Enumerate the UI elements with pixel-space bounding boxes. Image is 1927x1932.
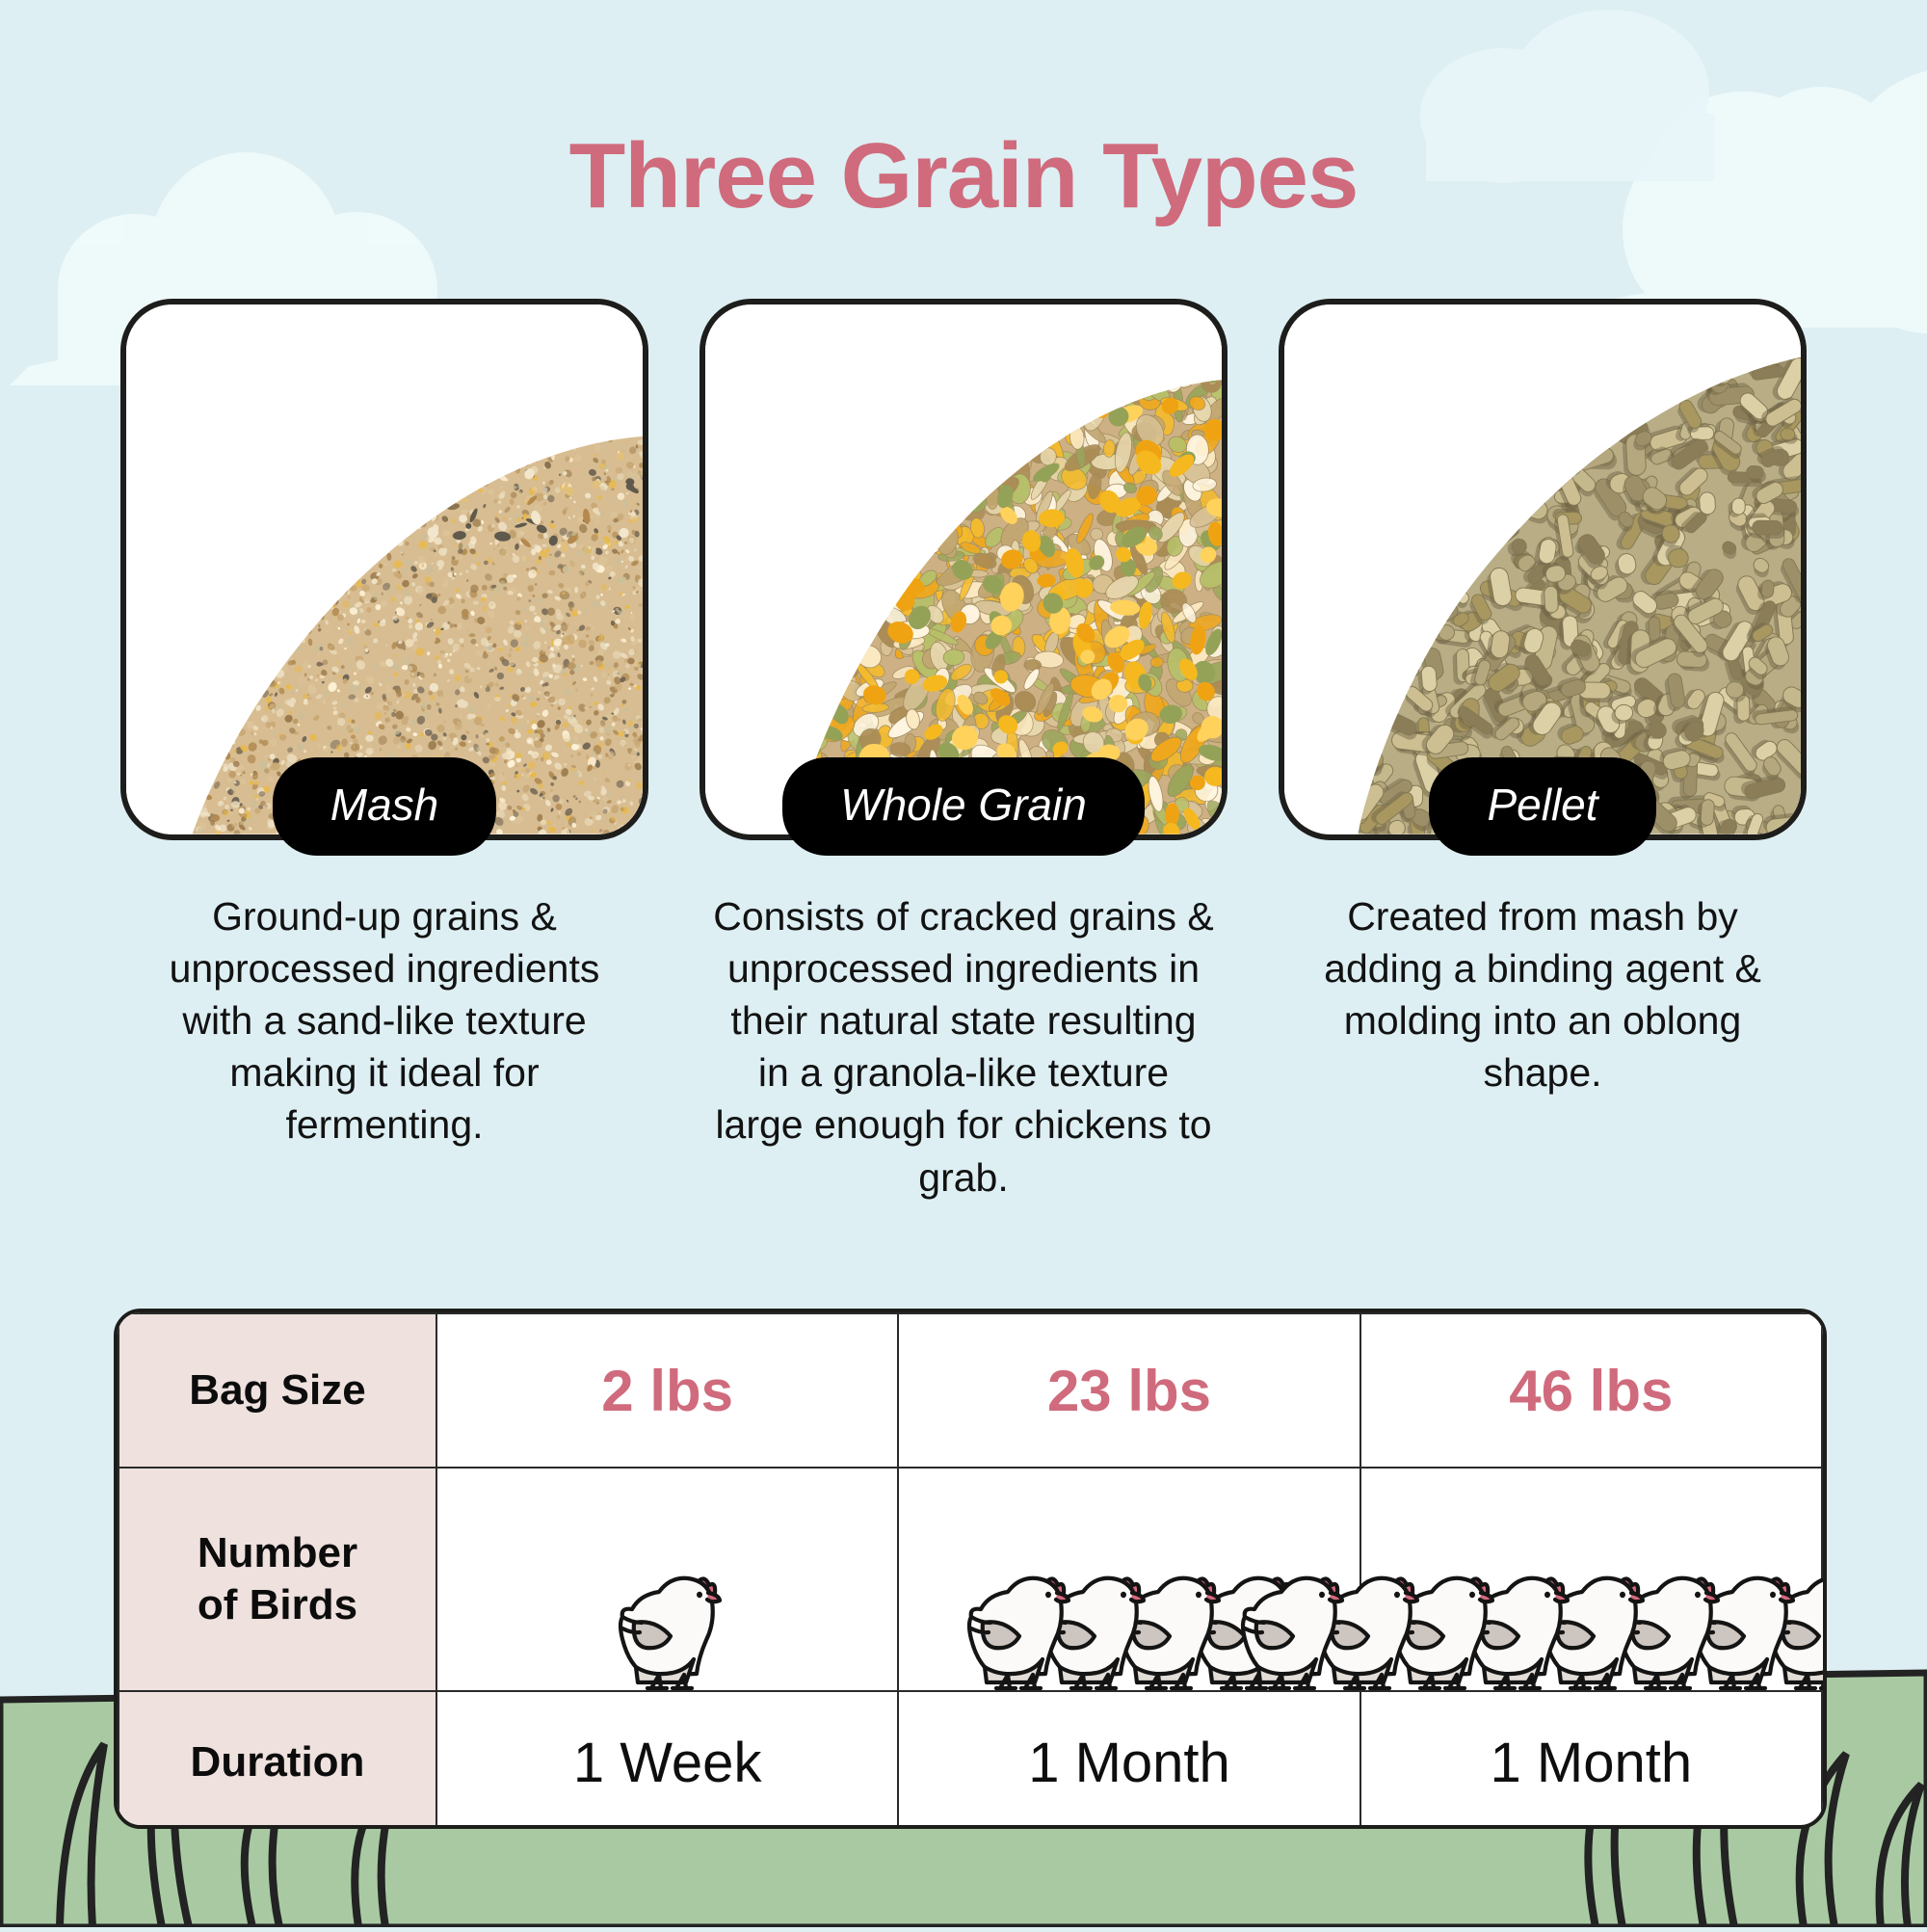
table-row-bag-size: Bag Size 2 lbs 23 lbs 46 lbs [119,1313,1822,1468]
cell-bag-size-1: 2 lbs [436,1313,898,1468]
grain-label-pellet: Pellet [1429,757,1655,856]
cell-duration-1: 1 Week [436,1691,898,1829]
grain-description-pellet: Created from mash by adding a binding ag… [1292,890,1793,1098]
chicken-icon [960,1567,1073,1690]
grain-description-mash: Ground-up grains & unprocessed ingredien… [134,890,635,1151]
grain-pile-whole-grain-icon [705,304,1222,834]
row-label-number-of-birds: Number of Birds [119,1468,436,1691]
cell-birds-3 [1360,1468,1822,1691]
chicken-icon [1233,1567,1347,1690]
table-row-duration: Duration 1 Week 1 Month 1 Month [119,1691,1822,1829]
grain-description-whole-grain: Consists of cracked grains & unprocessed… [713,890,1214,1204]
chicken-icon [611,1567,725,1690]
page-title: Three Grain Types [0,123,1927,229]
grain-pile-mash-icon [126,304,643,834]
table-row-number-of-birds: Number of Birds [119,1468,1822,1691]
grain-label-whole-grain: Whole Grain [782,757,1145,856]
grain-card-whole-grain[interactable]: Whole Grain Consists of cracked grains &… [700,299,1227,1204]
row-label-line2: of Birds [198,1581,357,1628]
row-label-bag-size: Bag Size [119,1313,436,1468]
cell-birds-1 [436,1468,898,1691]
row-label-duration: Duration [119,1691,436,1829]
grain-pile-pellet-icon [1284,304,1801,834]
feed-comparison-table: Bag Size 2 lbs 23 lbs 46 lbs Number of B… [114,1309,1827,1829]
grain-types-row: Mash Ground-up grains & unprocessed ingr… [0,299,1927,1204]
cell-duration-2: 1 Month [898,1691,1359,1829]
grain-label-mash: Mash [273,757,496,856]
row-label-line1: Number [198,1529,357,1576]
cell-bag-size-2: 23 lbs [898,1313,1359,1468]
cell-duration-3: 1 Month [1360,1691,1822,1829]
grain-card-pellet[interactable]: Pellet Created from mash by adding a bin… [1279,299,1807,1204]
grain-card-mash[interactable]: Mash Ground-up grains & unprocessed ingr… [120,299,648,1204]
cell-bag-size-3: 46 lbs [1360,1313,1822,1468]
